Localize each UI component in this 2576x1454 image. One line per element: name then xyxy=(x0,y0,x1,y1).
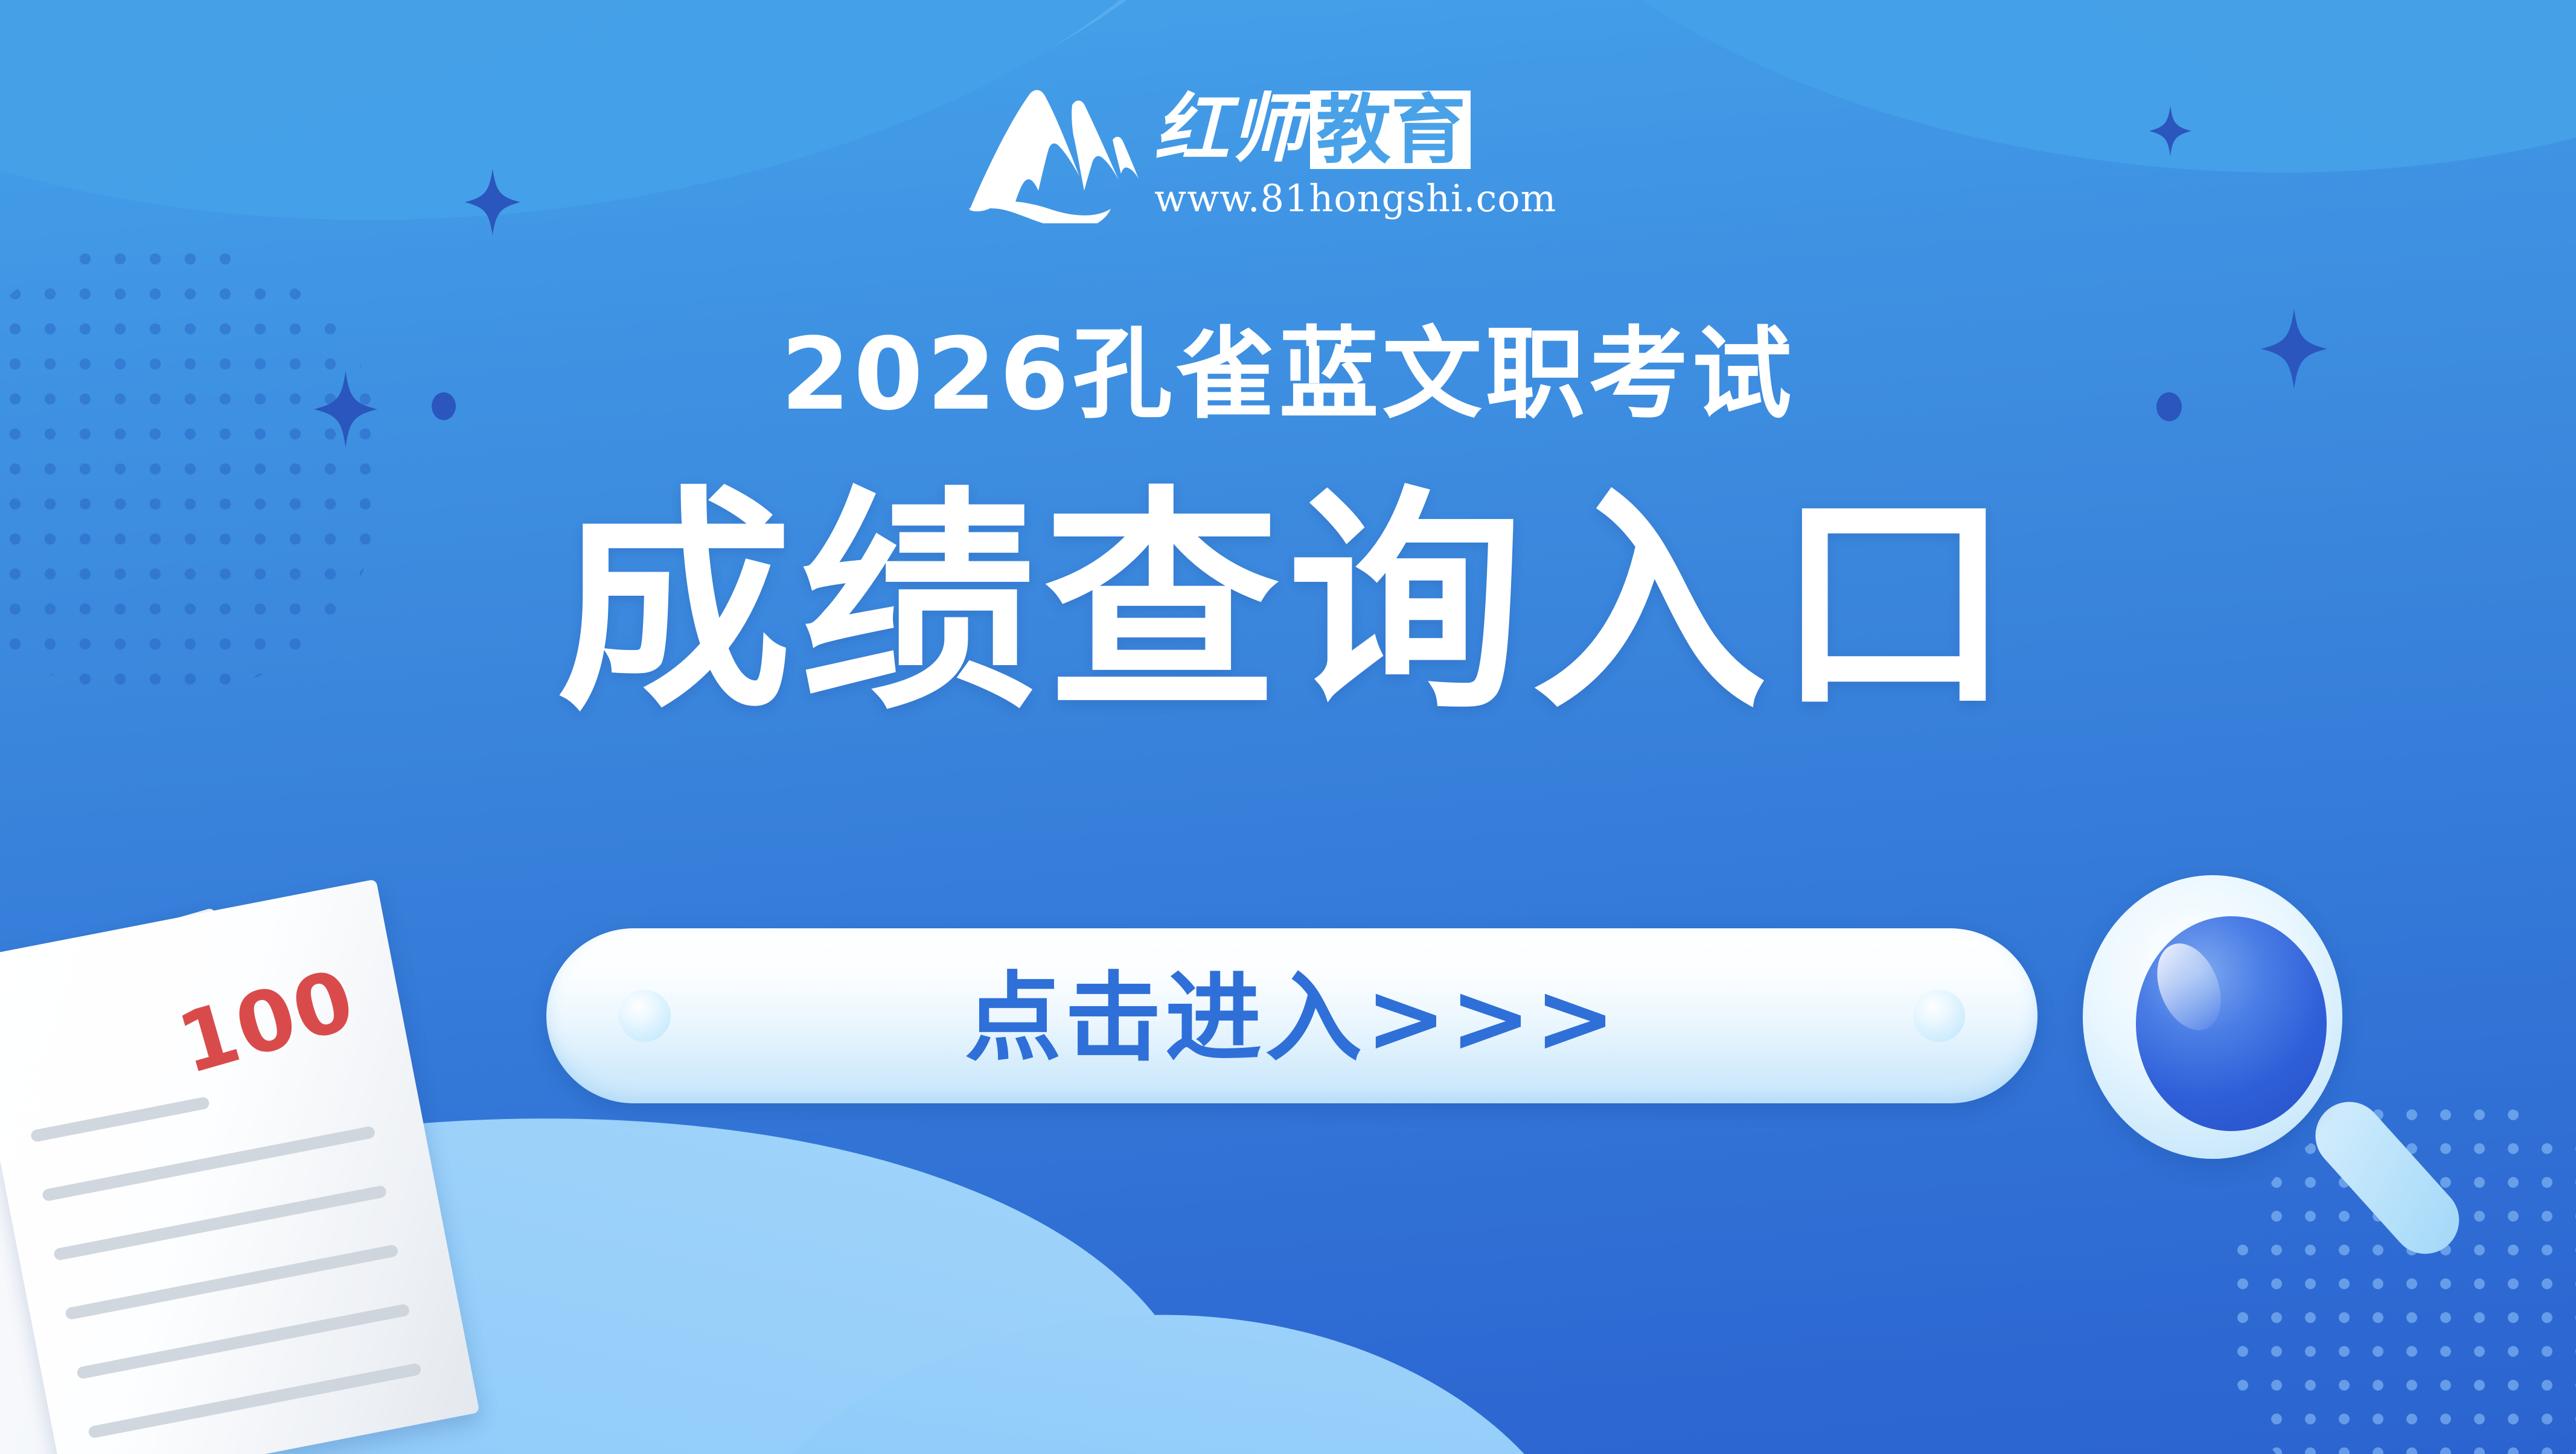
hero-subtitle: 2026孔雀蓝文职考试 xyxy=(0,320,2576,429)
magnifying-glass-icon xyxy=(2065,869,2487,1304)
magnifier-handle xyxy=(2301,1088,2473,1268)
brand-url: www.81hongshi.com xyxy=(1154,177,1556,220)
brand-logo[interactable]: 红师 教育 www.81hongshi.com xyxy=(966,84,1556,223)
paper-sheet-front: 100 xyxy=(0,879,479,1454)
enter-button[interactable]: 点击进入>>> xyxy=(546,928,2037,1103)
brand-name-primary: 红师 xyxy=(1154,91,1306,169)
brand-name-secondary: 教育 xyxy=(1310,91,1471,169)
wave-swoosh-icon-top-right-base xyxy=(1394,0,2576,235)
promo-banner: 红师 教育 www.81hongshi.com 2026孔雀蓝文职考试 成绩查询… xyxy=(0,0,2576,1454)
mountain-wave-icon xyxy=(966,84,1141,223)
exam-paper-stack-icon: 100 xyxy=(0,890,598,1454)
hero-headline: 成绩查询入口 xyxy=(0,483,2576,724)
button-highlight-dot-left xyxy=(619,990,671,1042)
button-highlight-dot-right xyxy=(1913,990,1965,1042)
magnifier-lens xyxy=(2136,916,2327,1131)
magnifier-ring xyxy=(2083,875,2342,1159)
four-point-sparkle-icon-1 xyxy=(465,169,520,235)
four-point-sparkle-icon-4 xyxy=(2149,106,2191,156)
enter-button-label: 点击进入>>> xyxy=(965,967,1619,1070)
score-value: 100 xyxy=(170,957,363,1088)
